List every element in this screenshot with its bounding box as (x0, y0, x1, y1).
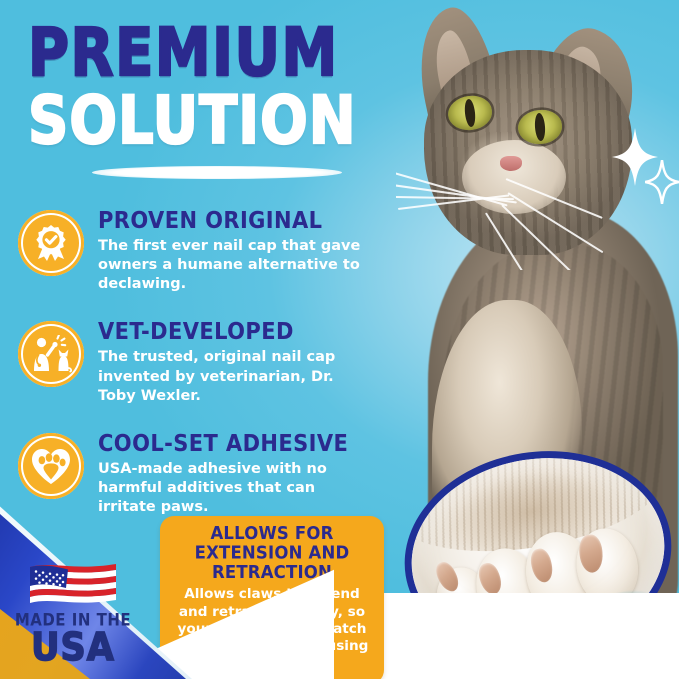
vet-and-cat-icon (18, 321, 84, 387)
feature-title: VET-DEVELOPED (98, 319, 370, 343)
feature-description: The trusted, original nail cap invented … (98, 348, 370, 405)
made-in-usa-badge: MADE IN THE USA (12, 561, 134, 667)
underline-swoosh (92, 166, 342, 179)
feature-text: PROVEN ORIGINAL The first ever nail cap … (98, 206, 370, 294)
feature-item: PROVEN ORIGINAL The first ever nail cap … (18, 206, 398, 294)
feature-title: PROVEN ORIGINAL (98, 208, 370, 232)
feature-list: PROVEN ORIGINAL The first ever nail cap … (18, 206, 398, 540)
product-feature-graphic: PREMIUM SOLUTION PROVEN ORIGINAL The fir… (0, 0, 679, 679)
heart-paw-icon (18, 433, 84, 499)
made-in-usa-line-2: USA (12, 630, 134, 669)
feature-text: COOL-SET ADHESIVE USA-made adhesive with… (98, 429, 370, 517)
feature-title: COOL-SET ADHESIVE (98, 431, 370, 455)
feature-text: VET-DEVELOPED The trusted, original nail… (98, 317, 370, 405)
feature-description: USA-made adhesive with no harmful additi… (98, 460, 370, 517)
feature-item: COOL-SET ADHESIVE USA-made adhesive with… (18, 429, 398, 517)
cat-whiskers (396, 150, 620, 270)
headline-line-1: PREMIUM (28, 22, 388, 85)
headline: PREMIUM SOLUTION (28, 22, 388, 144)
sparkle-icon (645, 160, 679, 204)
callout-title: ALLOWS FOR EXTENSION AND RETRACTION (170, 524, 374, 582)
usa-flag-icon (30, 561, 116, 607)
feature-item: VET-DEVELOPED The trusted, original nail… (18, 317, 398, 405)
award-rosette-icon (18, 210, 84, 276)
headline-line-2: SOLUTION (28, 90, 388, 153)
feature-description: The first ever nail cap that gave owners… (98, 237, 370, 294)
